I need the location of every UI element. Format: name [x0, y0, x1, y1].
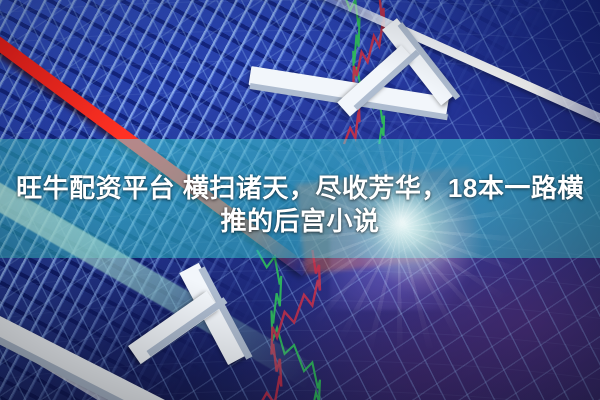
- banner-image: 旺牛配资平台 横扫诸天，尽收芳华，18本一路横推的后宫小说: [0, 0, 600, 400]
- headline-text: 旺牛配资平台 横扫诸天，尽收芳华，18本一路横推的后宫小说: [0, 172, 600, 238]
